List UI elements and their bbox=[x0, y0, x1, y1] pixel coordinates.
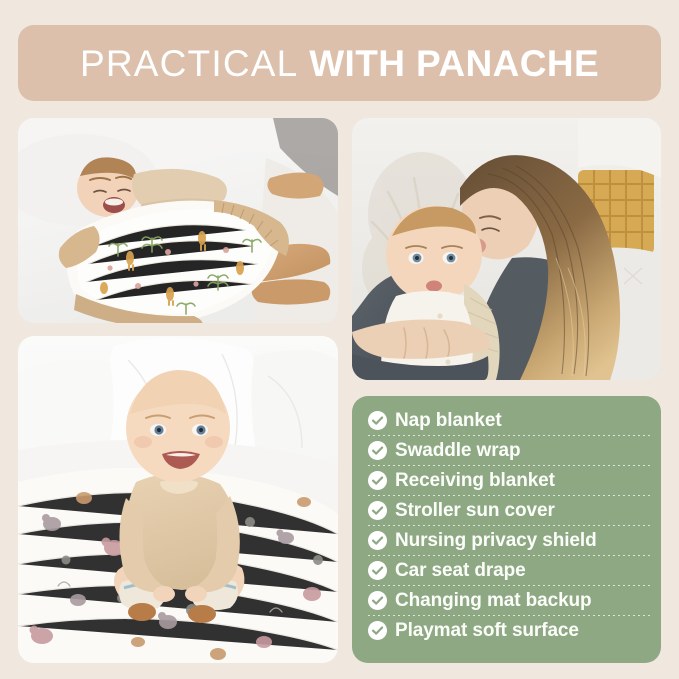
page-title-bold: WITH PANACHE bbox=[309, 43, 599, 84]
list-item-label: Nap blanket bbox=[395, 411, 502, 430]
list-item-label: Nursing privacy shield bbox=[395, 531, 597, 550]
list-item-label: Playmat soft surface bbox=[395, 621, 579, 640]
header-banner: PRACTICAL WITH PANACHE bbox=[18, 25, 661, 101]
mother-kissing-baby-illustration bbox=[352, 118, 661, 380]
list-item[interactable]: Changing mat backup bbox=[368, 585, 647, 615]
list-item[interactable]: Car seat drape bbox=[368, 555, 647, 585]
baby-sitting-on-blanket-photo bbox=[18, 336, 338, 663]
features-panel: Nap blanket Swaddle wrap Receiving blank… bbox=[352, 396, 661, 663]
check-circle-icon bbox=[368, 561, 387, 580]
check-circle-icon bbox=[368, 411, 387, 430]
page-title-light: PRACTICAL bbox=[80, 43, 298, 84]
check-circle-icon bbox=[368, 441, 387, 460]
list-item[interactable]: Nursing privacy shield bbox=[368, 525, 647, 555]
list-item-label: Receiving blanket bbox=[395, 471, 555, 490]
check-circle-icon bbox=[368, 501, 387, 520]
product-infographic: PRACTICAL WITH PANACHE bbox=[0, 0, 679, 679]
list-item[interactable]: Playmat soft surface bbox=[368, 615, 647, 645]
check-circle-icon bbox=[368, 621, 387, 640]
list-item[interactable]: Stroller sun cover bbox=[368, 495, 647, 525]
list-item-label: Swaddle wrap bbox=[395, 441, 521, 460]
check-circle-icon bbox=[368, 591, 387, 610]
list-item[interactable]: Nap blanket bbox=[368, 405, 647, 435]
baby-sitting-on-blanket-illustration bbox=[18, 336, 338, 663]
check-circle-icon bbox=[368, 471, 387, 490]
list-item[interactable]: Swaddle wrap bbox=[368, 435, 647, 465]
list-item-label: Stroller sun cover bbox=[395, 501, 555, 520]
page-title: PRACTICAL WITH PANACHE bbox=[80, 45, 599, 82]
baby-in-blanket-illustration bbox=[18, 118, 338, 323]
feature-list: Nap blanket Swaddle wrap Receiving blank… bbox=[368, 405, 647, 645]
list-item-label: Car seat drape bbox=[395, 561, 526, 580]
mother-kissing-baby-photo bbox=[352, 118, 661, 380]
list-item-label: Changing mat backup bbox=[395, 591, 592, 610]
baby-in-blanket-photo bbox=[18, 118, 338, 323]
check-circle-icon bbox=[368, 531, 387, 550]
list-item[interactable]: Receiving blanket bbox=[368, 465, 647, 495]
